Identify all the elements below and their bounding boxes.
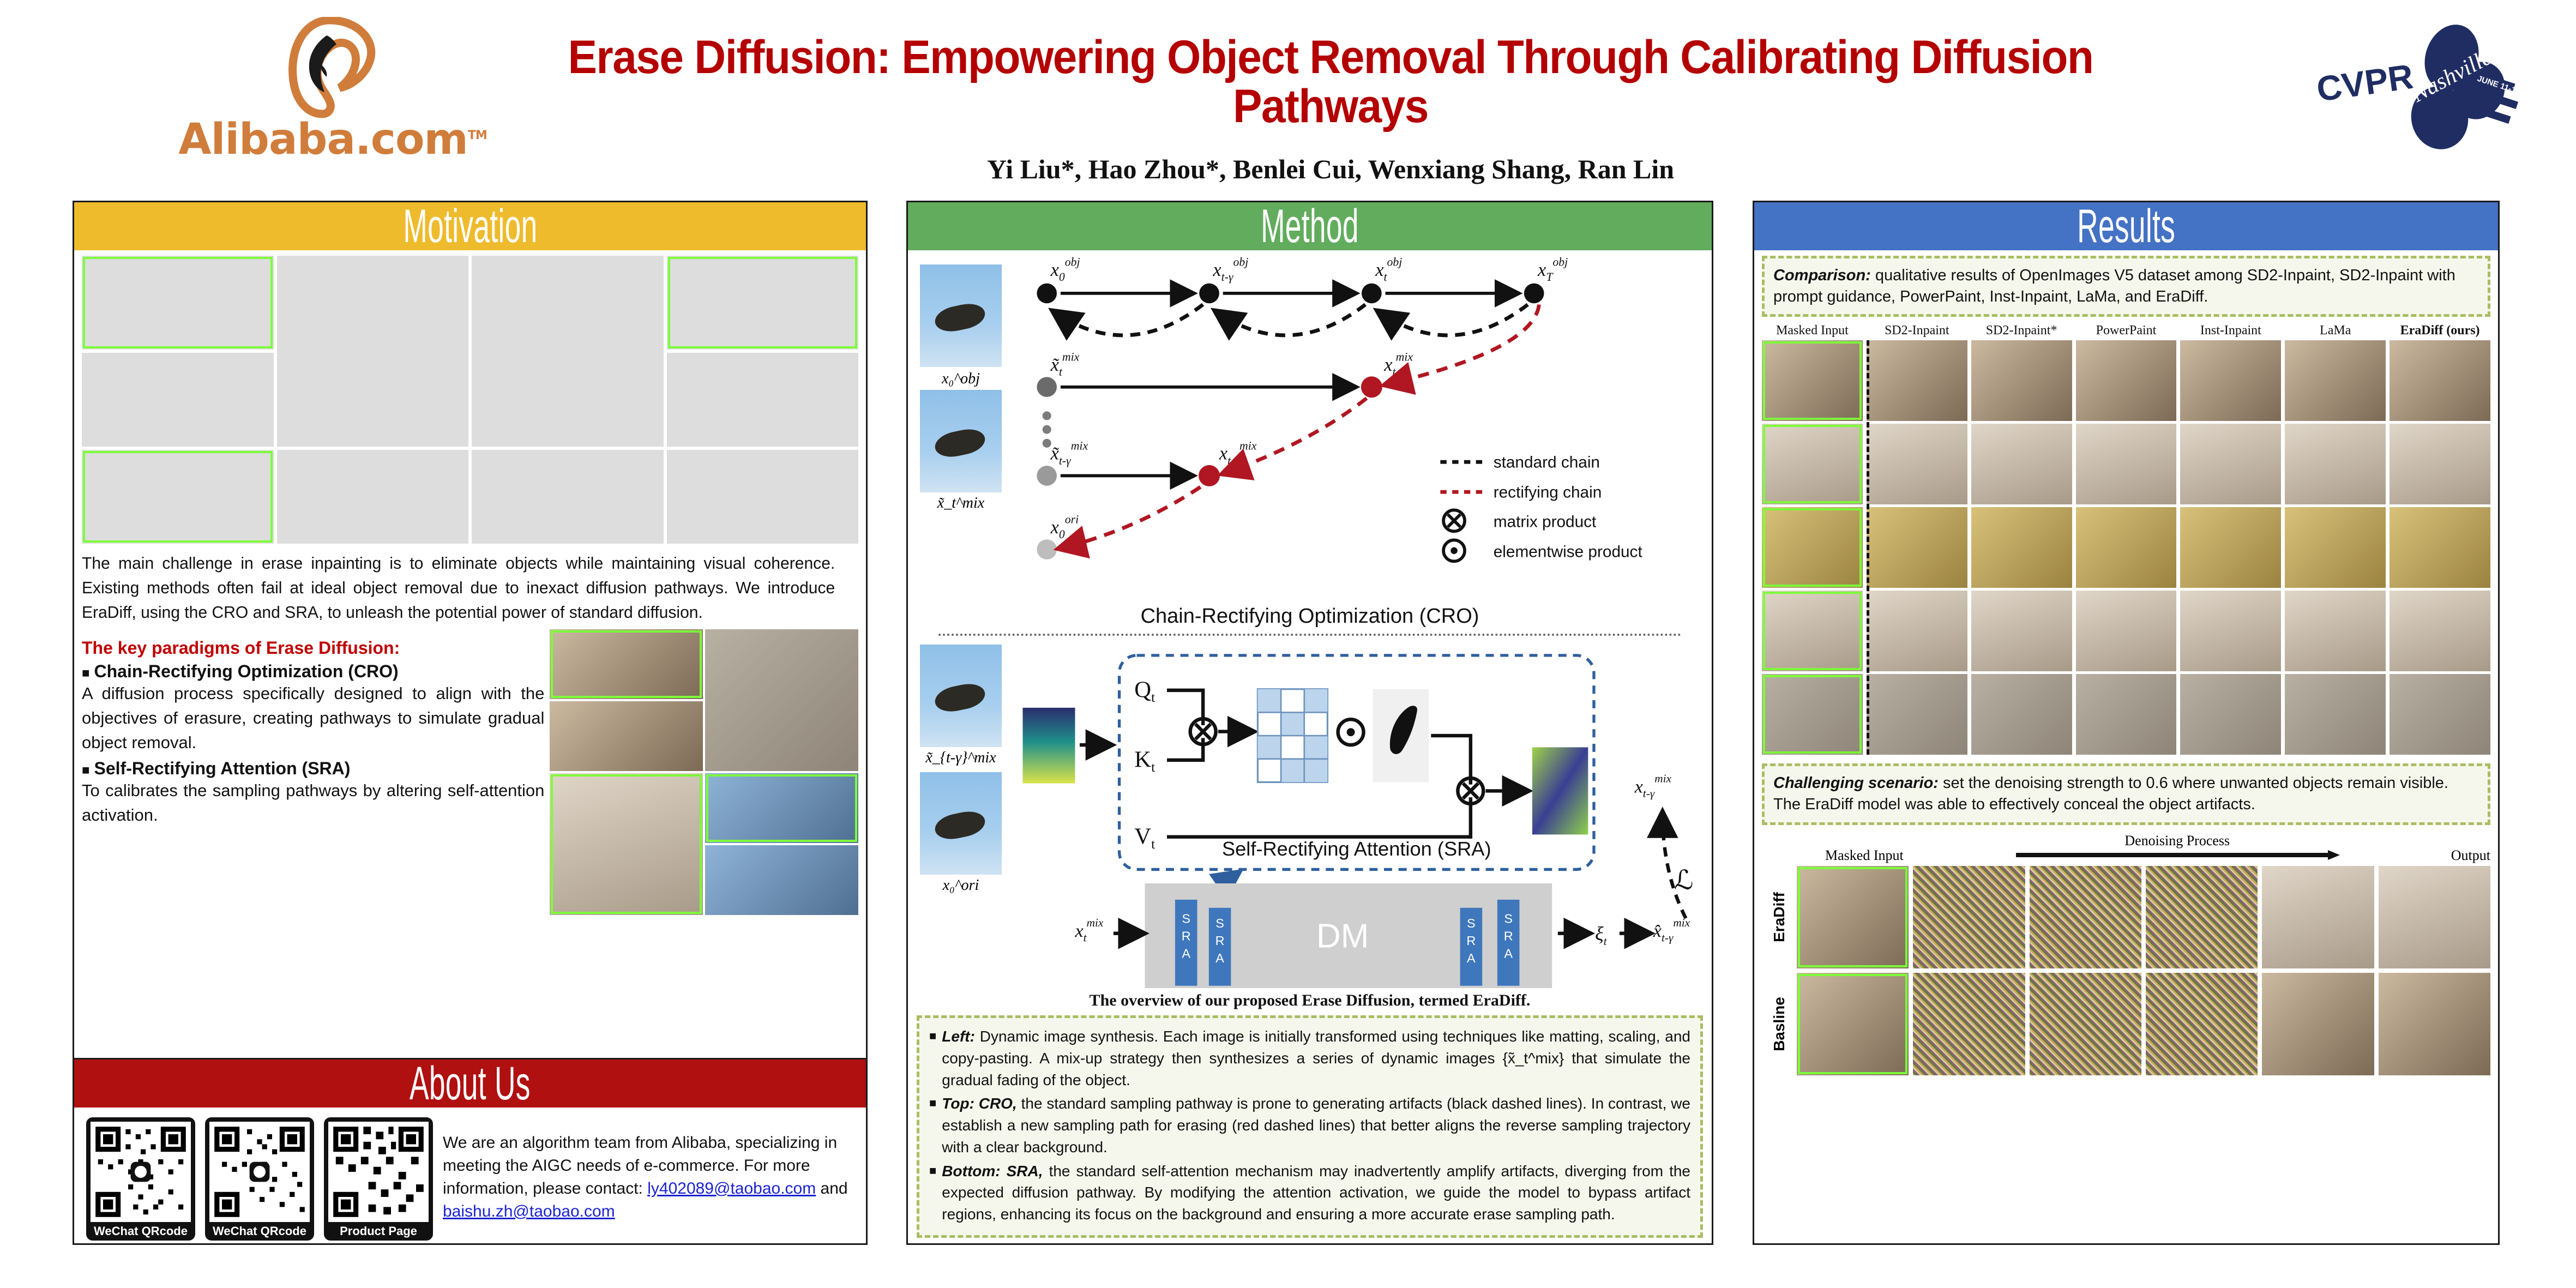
method-caption: The overview of our proposed Erase Diffu… (917, 991, 1703, 1010)
poster-header: Alibaba.comTM Erase Diffusion: Empowerin… (0, 0, 2576, 192)
denoise-cell (2146, 866, 2258, 968)
result-cell (1867, 340, 1967, 421)
svg-text:x0obj: x0obj (1050, 256, 1080, 284)
alibaba-mark-icon (270, 17, 395, 118)
result-cell (1971, 424, 2072, 504)
example-image (82, 353, 274, 447)
example-image (82, 450, 274, 544)
motivation-paradigms: The key paradigms of Erase Diffusion: Ch… (82, 629, 544, 915)
svg-text:S: S (1215, 916, 1224, 930)
example-image (667, 450, 859, 544)
diagram-image-caption: x₀^obj (920, 370, 1002, 384)
result-col-label: LaMa (2285, 323, 2386, 338)
alibaba-tm-mark: TM (468, 129, 487, 142)
email-link-2[interactable]: baishu.zh@taobao.com (443, 1202, 615, 1220)
motivation-paragraph: The main challenge in erase inpainting i… (82, 551, 835, 625)
result-cell (2285, 340, 2386, 421)
diagram-image-x0obj (920, 264, 1002, 367)
results-column-headers: Masked Input SD2-Inpaint SD2-Inpaint* Po… (1762, 323, 2490, 338)
svg-text:rectifying chain: rectifying chain (1494, 483, 1602, 501)
comparison-lead: Comparison: (1773, 267, 1871, 284)
alibaba-brand-suffix: .com (355, 115, 468, 164)
result-col-label: Inst-Inpaint (2180, 323, 2281, 338)
denoise-left-label: Masked Input (1825, 847, 1904, 864)
sra-title-text: Self-Rectifying Attention (SRA) (1222, 838, 1491, 860)
page-title: Erase Diffusion: Empowering Object Remov… (545, 33, 2117, 131)
section-header-motivation: Motivation (74, 202, 866, 250)
result-cell (1762, 591, 1863, 671)
svg-text:S: S (1182, 912, 1190, 926)
email-link-1[interactable]: ly402089@taobao.com (647, 1179, 816, 1197)
svg-text:elementwise product: elementwise product (1494, 543, 1643, 561)
svg-text:x̃t-γmix: x̃t-γmix (1050, 439, 1088, 467)
result-cell (1971, 674, 2072, 755)
svg-text:x̃tmix: x̃tmix (1050, 351, 1080, 378)
bullet-square-icon: ■ (929, 1026, 936, 1091)
example-image (667, 256, 859, 350)
about-content: WeChat QRcode (74, 1108, 866, 1241)
result-cell (2390, 424, 2490, 504)
results-column: Results Comparison: qualitative results … (1753, 201, 2500, 1245)
loss-symbol: ℒ (1674, 865, 1693, 895)
diagram-image-caption: x̃_{t-γ}^mix (920, 749, 1002, 763)
svg-text:xt-γmix: xt-γmix (1219, 439, 1257, 467)
result-cell (2390, 591, 2490, 671)
denoise-cell (2262, 866, 2374, 968)
about-us-box: About Us (73, 1058, 868, 1245)
svg-text:xtobj: xtobj (1375, 256, 1402, 284)
svg-text:S: S (1467, 916, 1476, 930)
example-image (82, 256, 274, 350)
example-image (705, 773, 858, 843)
result-cell (2285, 507, 2386, 588)
result-cell (2180, 424, 2281, 504)
result-cell (1971, 340, 2072, 421)
denoise-row: Basline (1762, 973, 2490, 1075)
denoise-arrow-label: Denoising Process (1908, 833, 2447, 849)
qr-code-icon (91, 1122, 191, 1222)
bullet-lead: Top: CRO, (942, 1095, 1016, 1112)
diagram-image-xtmix (920, 390, 1002, 492)
example-image (667, 353, 859, 447)
qr-card[interactable]: Product Page (324, 1117, 433, 1241)
cro-sra-divider (938, 634, 1681, 636)
denoising-header: Masked Input Denoising Process Output (1762, 833, 2490, 864)
svg-text:xtmix: xtmix (1383, 351, 1413, 378)
example-image (705, 845, 858, 915)
qr-caption: WeChat QRcode (94, 1224, 188, 1238)
result-cell (1867, 591, 1967, 671)
comparison-body: qualitative results of OpenImages V5 dat… (1773, 267, 2455, 305)
alibaba-wordmark: Alibaba.comTM (178, 118, 486, 161)
paradigm-body-cro: A diffusion process specifically designe… (82, 682, 544, 755)
bullet-lead: Left: (942, 1028, 975, 1045)
diagram-image-caption: x₀^ori (920, 877, 1002, 891)
result-cell (1971, 591, 2072, 671)
bullet-square-icon: ■ (929, 1093, 936, 1158)
result-cell (2076, 340, 2177, 421)
result-cell (2285, 591, 2386, 671)
svg-text:matrix product: matrix product (1494, 513, 1597, 531)
qr-caption: Product Page (340, 1224, 417, 1238)
bullet-lead: Bottom: SRA, (942, 1163, 1043, 1179)
svg-text:xTobj: xTobj (1537, 256, 1568, 284)
qr-card[interactable]: WeChat QRcode (86, 1117, 195, 1241)
cro-chain-svg: x0obj xt-γobj xtobj xTobj x̃tmix xtmix (1009, 255, 1696, 582)
challenging-note: Challenging scenario: set the denoising … (1762, 763, 2490, 824)
denoise-cell (1913, 973, 2025, 1075)
example-image (705, 629, 858, 771)
svg-text:A: A (1504, 947, 1513, 961)
qr-code-icon (328, 1122, 429, 1222)
method-bullet: ■ Top: CRO, the standard sampling pathwa… (929, 1093, 1690, 1158)
dm-label: DM (1316, 917, 1369, 955)
bullet-square-icon: ■ (929, 1160, 936, 1225)
svg-text:Qt: Qt (1134, 677, 1155, 706)
comparison-note: Comparison: qualitative results of OpenI… (1762, 256, 2490, 317)
result-cell (2180, 340, 2281, 421)
result-col-label: SD2-Inpaint* (1971, 323, 2072, 338)
challenging-lead: Challenging scenario: (1773, 774, 1939, 792)
result-cell (2390, 507, 2490, 588)
svg-text:S: S (1504, 912, 1513, 926)
motivation-image-grid (82, 256, 858, 544)
svg-text:R: R (1466, 934, 1476, 948)
denoise-cell (2030, 866, 2141, 968)
alibaba-logo: Alibaba.comTM (180, 15, 485, 162)
results-grid-rows (1762, 340, 2490, 755)
denoise-cell (1797, 866, 1909, 968)
denoise-cell (2379, 973, 2490, 1075)
result-cell (1867, 507, 1967, 588)
svg-text:Kt: Kt (1134, 747, 1155, 775)
denoise-row-label-basline: Basline (1771, 997, 1788, 1051)
svg-text:R: R (1215, 934, 1225, 948)
svg-text:A: A (1215, 951, 1224, 965)
section-header-results: Results (1754, 202, 2498, 250)
cro-diagram: x₀^obj x̃_t^mix (917, 255, 1703, 615)
key-paradigms-heading: The key paradigms of Erase Diffusion: (82, 638, 544, 658)
method-bullet: ■ Bottom: SRA, the standard self-attenti… (929, 1160, 1690, 1225)
result-col-label: SD2-Inpaint (1867, 323, 1967, 338)
svg-text:A: A (1467, 951, 1476, 965)
example-image (550, 773, 703, 915)
poster-root: Alibaba.comTM Erase Diffusion: Empowerin… (0, 0, 2576, 1288)
result-cell (1971, 507, 2072, 588)
result-cell (2180, 507, 2281, 588)
bullet-body: the standard sampling pathway is prone t… (942, 1095, 1690, 1155)
alibaba-brand-text: Alibaba (178, 115, 355, 164)
title-block: Erase Diffusion: Empowering Object Remov… (485, 33, 2176, 228)
example-image (277, 450, 469, 544)
result-cell (2180, 674, 2281, 755)
svg-text:standard chain: standard chain (1494, 453, 1600, 471)
result-cell (1762, 424, 1863, 504)
results-heading: Results (2077, 200, 2175, 254)
sra-diagram: x̃_{t-γ}^mix x₀^ori (917, 639, 1703, 988)
cvpr-logo-icon: CVPR Nashville JUNE 11-15, 2025 (2315, 20, 2523, 156)
about-text-mid: and (816, 1179, 847, 1197)
section-header-about: About Us (74, 1060, 866, 1108)
result-cell (2390, 674, 2490, 755)
result-cell (2285, 424, 2386, 504)
results-body: Comparison: qualitative results of OpenI… (1754, 250, 2498, 1081)
masked-input-separator (1867, 340, 1869, 755)
sra-attention-svg: Qt Kt Vt (1007, 639, 1702, 988)
diagram-image-x0ori (920, 772, 1002, 875)
result-cell (2076, 591, 2177, 671)
result-cell (2285, 674, 2386, 755)
example-image (472, 256, 664, 447)
result-col-label: EraDiff (ours) (2390, 323, 2490, 338)
denoise-right-label: Output (2451, 847, 2490, 864)
svg-text:xtmix: xtmix (1075, 916, 1104, 944)
method-bullet: ■ Left: Dynamic image synthesis. Each im… (929, 1026, 1690, 1091)
paradigm-title-cro: Chain-Rectifying Optimization (CRO) (82, 661, 544, 682)
diagram-image-caption: x̃_t^mix (920, 495, 1002, 509)
result-cell (2076, 674, 2177, 755)
svg-text:R: R (1504, 929, 1513, 943)
denoise-cell (2379, 866, 2490, 968)
denoise-row: EraDiff (1762, 866, 2490, 968)
result-cell (1762, 340, 1863, 421)
result-cell (1867, 424, 1967, 504)
svg-text:A: A (1182, 947, 1190, 961)
method-body: x₀^obj x̃_t^mix (908, 250, 1712, 1245)
motivation-side-images (550, 629, 858, 915)
denoise-cell (1913, 866, 2025, 968)
example-image (277, 256, 469, 447)
denoise-cell (2262, 973, 2374, 1075)
svg-text:ξt: ξt (1595, 923, 1608, 948)
paradigm-title-sra: Self-Rectifying Attention (SRA) (82, 759, 544, 779)
motivation-lower: The key paradigms of Erase Diffusion: Ch… (82, 629, 858, 915)
result-col-label: Masked Input (1762, 323, 1863, 338)
result-cell (1762, 674, 1863, 755)
qr-code-icon (209, 1122, 310, 1222)
example-image (472, 450, 664, 544)
qr-card[interactable]: WeChat QRcode (205, 1117, 314, 1241)
about-description: We are an algorithm team from Alibaba, s… (443, 1117, 866, 1223)
svg-text:CVPR: CVPR (2315, 57, 2416, 109)
method-column: Method x₀^obj x̃_t^mix (906, 201, 1713, 1245)
bullet-body: Dynamic image synthesis. Each image is i… (942, 1028, 1690, 1088)
right-arrow-icon (1908, 849, 2447, 861)
svg-text:xt-γobj: xt-γobj (1212, 256, 1248, 284)
results-comparison-grid (1762, 340, 2490, 755)
method-heading: Method (1261, 200, 1359, 254)
svg-text:x0ori: x0ori (1050, 513, 1079, 540)
result-col-label: PowerPaint (2076, 323, 2177, 338)
example-image (550, 629, 703, 699)
result-cell (2180, 591, 2281, 671)
denoise-cell (1797, 973, 1909, 1075)
bullet-body: the standard self-attention mechanism ma… (942, 1163, 1690, 1223)
result-cell (2076, 424, 2177, 504)
svg-text:x̂t-γmix: x̂t-γmix (1653, 916, 1690, 944)
result-cell (2076, 507, 2177, 588)
motivation-body: The main challenge in erase inpainting i… (74, 250, 866, 915)
denoise-row-label-eradiff: EraDiff (1771, 892, 1788, 942)
example-image (550, 701, 703, 771)
result-cell (1867, 674, 1967, 755)
denoise-cell (2030, 973, 2141, 1075)
svg-text:R: R (1182, 929, 1191, 943)
author-list: Yi Liu*, Hao Zhou*, Benlei Cui, Wenxiang… (485, 153, 2176, 185)
motivation-heading: Motivation (403, 200, 537, 254)
method-bullets-box: ■ Left: Dynamic image synthesis. Each im… (917, 1015, 1703, 1238)
denoise-cell (2146, 973, 2258, 1075)
svg-text:Vt: Vt (1134, 823, 1155, 852)
svg-text:xt-γmix: xt-γmix (1634, 772, 1672, 800)
result-cell (2390, 340, 2490, 421)
about-heading: About Us (410, 1057, 531, 1111)
author-names: Yi Liu*, Hao Zhou*, Benlei Cui, Wenxiang… (987, 154, 1674, 184)
result-cell (1762, 507, 1863, 588)
diagram-image-xtgmix (920, 645, 1002, 747)
qr-caption: WeChat QRcode (213, 1224, 306, 1238)
section-header-method: Method (908, 202, 1712, 250)
paradigm-body-sra: To calibrates the sampling pathways by a… (82, 779, 544, 828)
